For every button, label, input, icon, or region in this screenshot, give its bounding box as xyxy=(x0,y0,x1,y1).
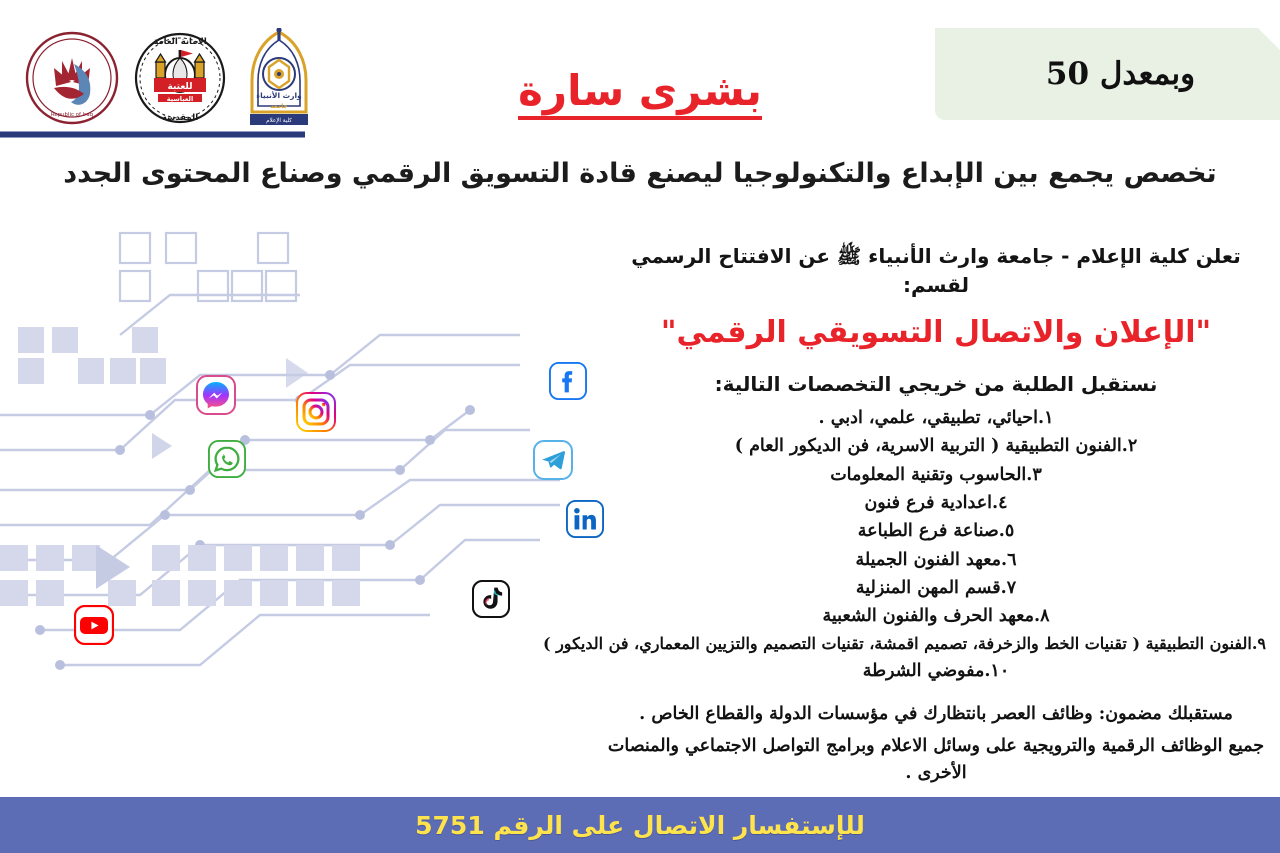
tiktok-icon[interactable] xyxy=(472,580,510,618)
instagram-icon[interactable] xyxy=(296,392,336,432)
content-column: تعلن كلية الإعلام - جامعة وارث الأنبياء … xyxy=(606,244,1266,792)
page-title: بشرى سارة xyxy=(518,70,762,112)
headline-block: بشرى سارة xyxy=(0,70,1280,120)
list-item: ٥.صناعة فرع الطباعة xyxy=(606,517,1266,545)
announcement-line: تعلن كلية الإعلام - جامعة وارث الأنبياء … xyxy=(606,244,1266,297)
closing-line-jobs: جميع الوظائف الرقمية والترويجية على وسائ… xyxy=(606,733,1266,786)
poster-root: وارث الأنبياء جامعة كلية الإعلام الامانة… xyxy=(0,0,1280,853)
contact-banner: للإستفسار الاتصال على الرقم 5751 xyxy=(0,797,1280,853)
facebook-icon[interactable] xyxy=(549,362,587,400)
list-item: ١.احيائي، تطبيقي، علمي، ادبي . xyxy=(606,404,1266,432)
svg-text:الامانة العامة: الامانة العامة xyxy=(153,37,207,47)
list-item: ٢.الفنون التطبيقية ( التربية الاسرية، فن… xyxy=(606,432,1266,460)
list-item: ٤.اعدادية فرع فنون xyxy=(606,489,1266,517)
list-item: ٧.قسم المهن المنزلية xyxy=(606,574,1266,602)
accepted-specializations-intro: نستقبل الطلبة من خريجي التخصصات التالية: xyxy=(606,372,1266,396)
list-item: ٨.معهد الحرف والفنون الشعبية xyxy=(606,602,1266,630)
closing-line-future: مستقبلك مضمون: وظائف العصر بانتظارك في م… xyxy=(606,701,1266,727)
list-item: ٩.الفنون التطبيقية ( تقنيات الخط والزخرف… xyxy=(606,631,1266,657)
messenger-icon[interactable] xyxy=(196,375,236,415)
whatsapp-icon[interactable] xyxy=(208,440,246,478)
contact-banner-text: للإستفسار الاتصال على الرقم 5751 xyxy=(415,811,865,840)
telegram-icon[interactable] xyxy=(533,440,573,480)
specializations-list: ١.احيائي، تطبيقي، علمي، ادبي . ٢.الفنون … xyxy=(606,404,1266,685)
department-name: "الإعلان والاتصال التسويقي الرقمي" xyxy=(606,315,1266,350)
headline-underline xyxy=(518,116,762,120)
list-item: ١٠.مفوضي الشرطة xyxy=(606,657,1266,685)
list-item: ٦.معهد الفنون الجميلة xyxy=(606,546,1266,574)
youtube-icon[interactable] xyxy=(74,605,114,645)
linkedin-icon[interactable] xyxy=(566,500,604,538)
closing-block: مستقبلك مضمون: وظائف العصر بانتظارك في م… xyxy=(606,701,1266,786)
header-divider xyxy=(0,131,305,138)
list-item: ٣.الحاسوب وتقنية المعلومات xyxy=(606,461,1266,489)
subtitle: تخصص يجمع بين الإبداع والتكنولوجيا ليصنع… xyxy=(0,158,1280,189)
